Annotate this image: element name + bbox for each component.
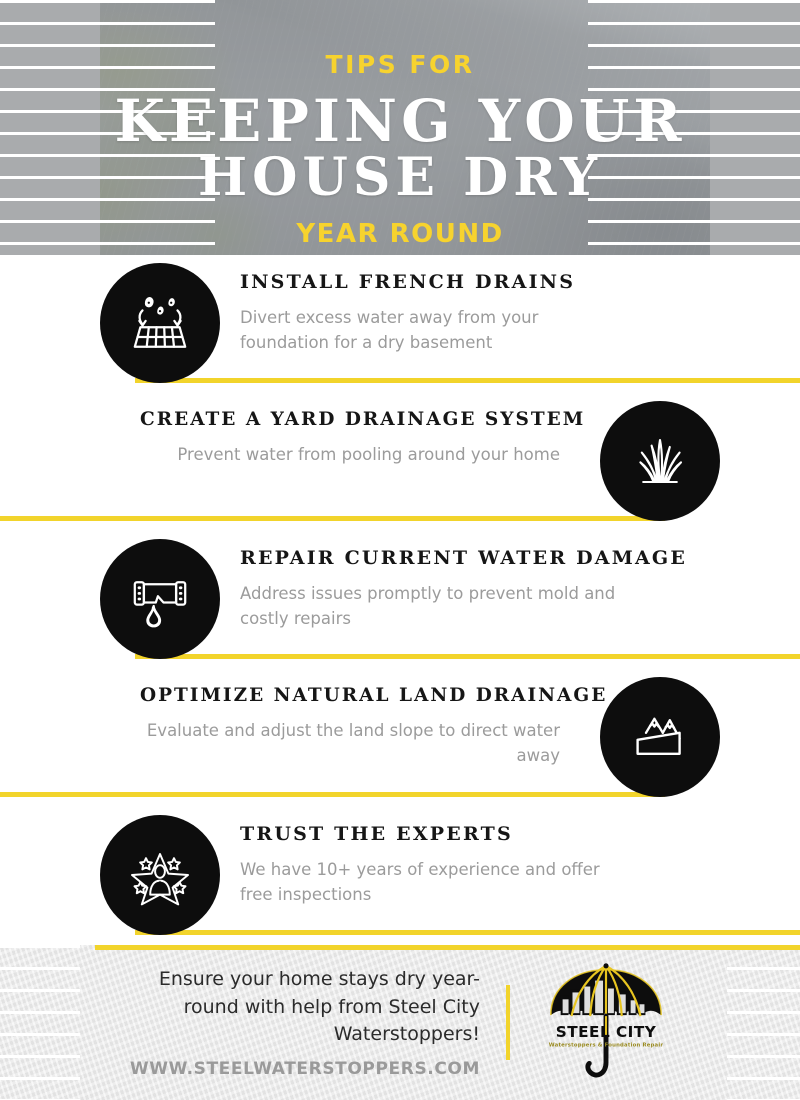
tip-title-2: CREATE A YARD DRAINAGE SYSTEM <box>140 409 560 431</box>
infographic-poster: TIPS FOR KEEPING YOUR HOUSE DRY YEAR ROU… <box>0 0 800 1100</box>
tip-title-4: OPTIMIZE NATURAL LAND DRAINAGE <box>140 685 560 707</box>
tip-body-1: Divert excess water away from your found… <box>240 305 620 355</box>
mountain-land-slope-icon <box>625 702 695 772</box>
header-title-line1: KEEPING YOUR <box>114 87 685 155</box>
tip-row-1: INSTALL FRENCH DRAINS Divert excess wate… <box>0 263 800 401</box>
footer-copy-block: Ensure your home stays dry year-round wi… <box>120 966 480 1079</box>
tip-row-3: REPAIR CURRENT WATER DAMAGE Address issu… <box>0 539 800 677</box>
tip-body-3: Address issues promptly to prevent mold … <box>240 581 620 631</box>
footer-vertical-divider <box>506 985 510 1060</box>
tip-row-4: OPTIMIZE NATURAL LAND DRAINAGE Evaluate … <box>0 677 800 815</box>
tip-divider-2 <box>0 516 665 521</box>
logo-brand-text: STEEL CITY <box>556 1022 657 1040</box>
header-eyebrow: TIPS FOR <box>326 52 475 77</box>
header-text-block: TIPS FOR KEEPING YOUR HOUSE DRY YEAR ROU… <box>0 0 800 255</box>
tip-icon-circle-3 <box>100 539 220 659</box>
grass-plants-icon <box>625 426 695 496</box>
leaking-pipe-icon <box>125 564 195 634</box>
tip-divider-1 <box>135 378 800 383</box>
brand-logo: STEEL CITY Waterstoppers & Foundation Re… <box>536 958 676 1088</box>
header-title-line2: HOUSE DRY <box>114 151 685 205</box>
tip-text-3: REPAIR CURRENT WATER DAMAGE Address issu… <box>240 547 620 631</box>
tip-body-4: Evaluate and adjust the land slope to di… <box>140 718 560 768</box>
tip-text-4: OPTIMIZE NATURAL LAND DRAINAGE Evaluate … <box>140 685 560 768</box>
tip-divider-5 <box>135 930 800 935</box>
tip-icon-circle-5 <box>100 815 220 935</box>
logo-tagline-text: Waterstoppers & Foundation Repair <box>549 1042 664 1048</box>
star-expert-icon <box>125 840 195 910</box>
tip-title-3: REPAIR CURRENT WATER DAMAGE <box>240 547 620 570</box>
tip-title-1: INSTALL FRENCH DRAINS <box>240 271 620 294</box>
tip-text-1: INSTALL FRENCH DRAINS Divert excess wate… <box>240 271 620 355</box>
footer-cta-text: Ensure your home stays dry year-round wi… <box>120 966 480 1049</box>
footer-content: Ensure your home stays dry year-round wi… <box>0 945 800 1100</box>
tip-text-5: TRUST THE EXPERTS We have 10+ years of e… <box>240 823 620 907</box>
tip-title-5: TRUST THE EXPERTS <box>240 823 620 846</box>
tip-icon-circle-1 <box>100 263 220 383</box>
tip-body-2: Prevent water from pooling around your h… <box>140 442 560 467</box>
tip-divider-3 <box>135 654 800 659</box>
tip-body-5: We have 10+ years of experience and offe… <box>240 857 620 907</box>
tip-icon-circle-2 <box>600 401 720 521</box>
tip-row-2: CREATE A YARD DRAINAGE SYSTEM Prevent wa… <box>0 401 800 539</box>
footer-banner: Ensure your home stays dry year-round wi… <box>0 945 800 1100</box>
footer-website-url[interactable]: WWW.STEELWATERSTOPPERS.COM <box>120 1059 480 1079</box>
header-title: KEEPING YOUR HOUSE DRY <box>114 91 685 205</box>
tip-icon-circle-4 <box>600 677 720 797</box>
tip-text-2: CREATE A YARD DRAINAGE SYSTEM Prevent wa… <box>140 409 560 467</box>
tip-divider-4 <box>0 792 665 797</box>
steel-city-umbrella-logo: STEEL CITY Waterstoppers & Foundation Re… <box>537 959 675 1087</box>
footer-top-accent-rule <box>95 945 800 950</box>
header-banner: TIPS FOR KEEPING YOUR HOUSE DRY YEAR ROU… <box>0 0 800 255</box>
header-subtitle: YEAR ROUND <box>296 221 503 247</box>
tip-row-5: TRUST THE EXPERTS We have 10+ years of e… <box>0 815 800 953</box>
drain-grate-icon <box>125 288 195 358</box>
tips-list: INSTALL FRENCH DRAINS Divert excess wate… <box>0 255 800 945</box>
